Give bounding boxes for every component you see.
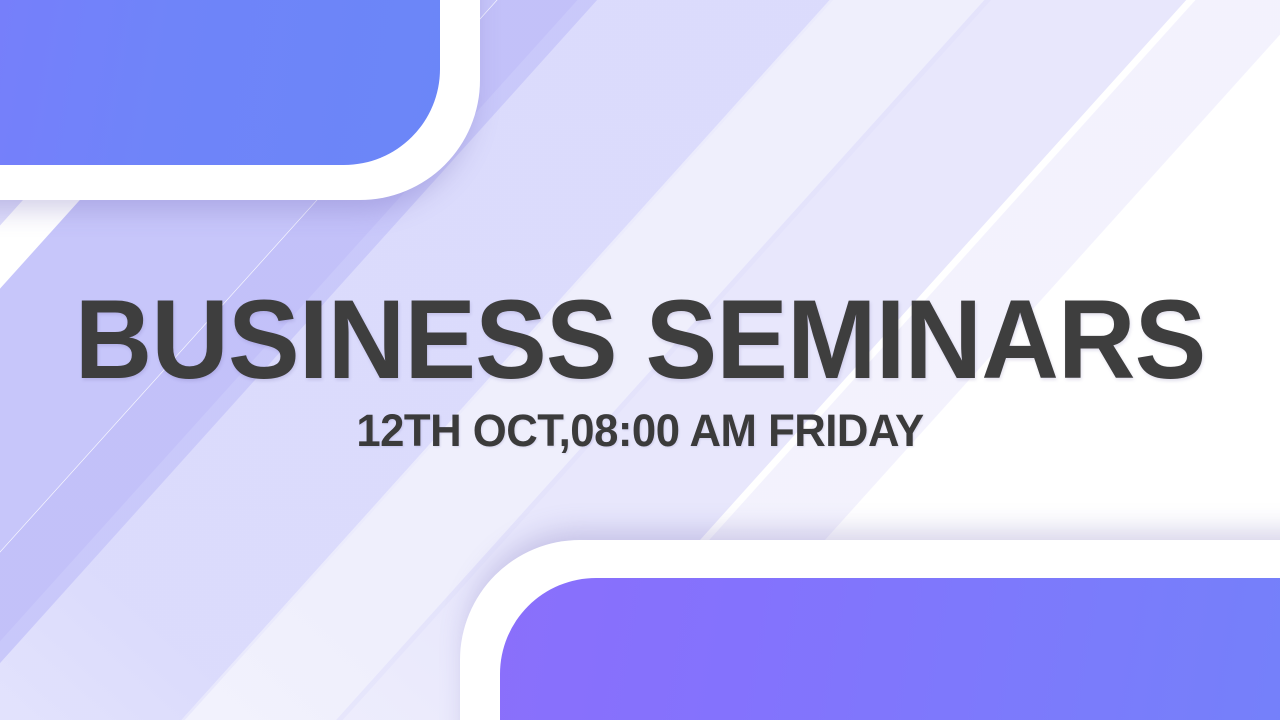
bottom-right-gradient-panel: [500, 578, 1280, 720]
event-datetime: 12TH OCT,08:00 AM FRIDAY: [19, 405, 1261, 457]
top-left-gradient-panel: [0, 0, 440, 165]
headline-block: BUSINESS SEMINARS 12TH OCT,08:00 AM FRID…: [0, 288, 1280, 457]
event-title: BUSINESS SEMINARS: [26, 288, 1255, 391]
poster-canvas: BUSINESS SEMINARS 12TH OCT,08:00 AM FRID…: [0, 0, 1280, 720]
